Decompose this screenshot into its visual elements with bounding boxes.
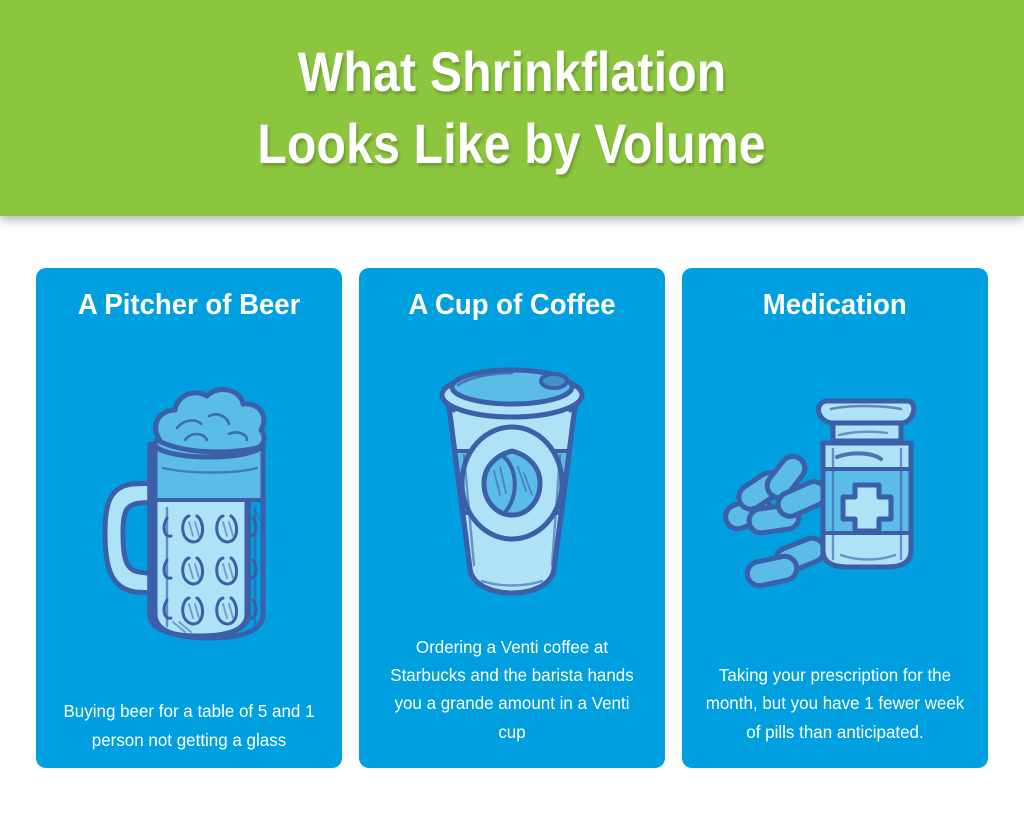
card-title: A Cup of Coffee: [408, 290, 615, 322]
mug-foam: [156, 389, 264, 451]
card-caption: Taking your prescription for the month, …: [687, 661, 984, 768]
card-title: A Pitcher of Beer: [78, 290, 301, 322]
card-illustration: [682, 322, 988, 661]
cards-row: A Pitcher of Beer: [36, 268, 988, 768]
card-caption: Buying beer for a table of 5 and 1 perso…: [41, 697, 338, 768]
card-title: Medication: [763, 290, 907, 322]
card-medication[interactable]: Medication: [682, 268, 988, 768]
page-title-line-2: Looks Like by Volume: [258, 108, 766, 180]
card-pitcher-of-beer[interactable]: A Pitcher of Beer: [36, 268, 342, 768]
header-title-block: What Shrinkflation Looks Like by Volume: [0, 0, 1024, 216]
card-caption: Ordering a Venti coffee at Starbucks and…: [364, 633, 661, 768]
coffee-cup-icon: [414, 355, 610, 605]
bottle-cap: [818, 401, 913, 423]
pill-bottle-icon: [715, 383, 955, 605]
pills-cluster: [722, 452, 829, 588]
card-illustration: [359, 322, 665, 633]
pill-7: [745, 554, 799, 588]
card-illustration: [36, 322, 342, 697]
beer-mug-icon: [89, 382, 289, 644]
header-banner: What Shrinkflation Looks Like by Volume: [0, 0, 1024, 216]
sip-hole: [541, 374, 567, 388]
page-title-line-1: What Shrinkflation: [298, 36, 726, 108]
card-cup-of-coffee[interactable]: A Cup of Coffee: [359, 268, 665, 768]
